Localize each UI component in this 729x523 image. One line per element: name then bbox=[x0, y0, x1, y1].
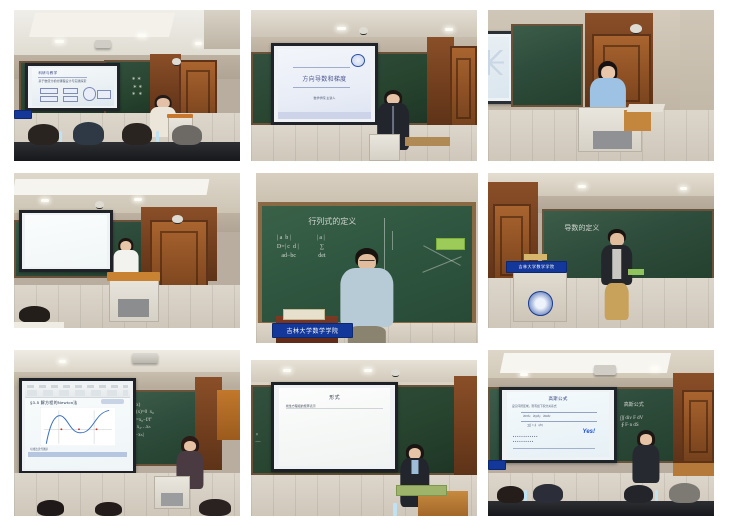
university-emblem bbox=[528, 291, 553, 315]
security-camera-icon bbox=[359, 27, 368, 34]
wall-column bbox=[653, 10, 680, 116]
projection-screen bbox=[19, 210, 114, 272]
screen-surface: 高斯公式 设空间闭区域，则有如下积分关系式 ∂P/∂x ∂Q/∂y ∂R/∂z … bbox=[507, 392, 610, 457]
slide-rule bbox=[38, 77, 87, 78]
ceiling-light bbox=[337, 27, 346, 30]
slide-title: 方向导数和梯度 bbox=[278, 74, 370, 83]
ceiling-vent bbox=[204, 10, 240, 49]
ceiling-coffer bbox=[499, 353, 670, 373]
slide-curve-plot bbox=[40, 407, 115, 446]
toolbar-ribbon bbox=[27, 390, 128, 396]
department-banner: 吉林大学数学学院 bbox=[506, 261, 567, 272]
lectern-top bbox=[107, 272, 160, 281]
slide-rule bbox=[521, 412, 597, 413]
security-camera-icon bbox=[630, 24, 642, 33]
water-bottle bbox=[524, 490, 527, 501]
lectern bbox=[369, 134, 401, 161]
water-bottle bbox=[655, 490, 658, 501]
slide-flow-node bbox=[97, 90, 110, 99]
security-camera-icon bbox=[95, 201, 104, 208]
slide-note: ● ● ● ● ● ● ● ● ● ● ● ● bbox=[513, 435, 538, 439]
slide-emblem bbox=[351, 54, 365, 67]
screen-surface: 方向导数和梯度 数学学院 主讲人 bbox=[278, 49, 370, 119]
desk-row bbox=[14, 142, 240, 161]
photo-item[interactable]: 科研与教学 基于数值分析的课程设计与实践探索 ∗ ∗ ∗ ∗∗ ∗ bbox=[14, 10, 240, 161]
ceiling-light bbox=[41, 199, 49, 202]
slide-body: 设空间闭区域，则有如下积分关系式 bbox=[512, 404, 557, 409]
ceiling-coffer bbox=[14, 179, 210, 195]
wood-wall-panel bbox=[454, 376, 477, 476]
slide-title: 形式 bbox=[279, 394, 390, 401]
audience bbox=[14, 300, 240, 328]
ceiling-light bbox=[651, 367, 659, 370]
chalk-writing: 导数的定义 bbox=[564, 223, 599, 234]
audience-head bbox=[19, 306, 51, 323]
slide-formula: ∑∫∫ = ∮ (∂²) bbox=[527, 423, 543, 428]
projection-screen: 形式 线性方程组的矩阵表示 bbox=[271, 382, 398, 472]
chalk-writing: ∫∫∫ div F dV ∮ F·n dS bbox=[620, 415, 643, 430]
slide-formula: ∂P/∂x ∂Q/∂y ∂R/∂z bbox=[523, 414, 550, 419]
glasses-icon bbox=[360, 260, 375, 264]
slide-flow-node bbox=[83, 87, 96, 101]
audience bbox=[488, 473, 714, 516]
lectern-wood-side bbox=[624, 110, 651, 131]
projection-screen: 科研与教学 基于数值分析的课程设计与实践探索 bbox=[25, 63, 120, 111]
audience-head bbox=[73, 122, 105, 145]
audience bbox=[14, 116, 240, 161]
corner-sign bbox=[14, 110, 32, 120]
chalk-writing: 行列式的定义 bbox=[308, 216, 356, 228]
photo-item[interactable] bbox=[14, 173, 240, 328]
audience-head bbox=[199, 499, 231, 516]
slide-flow-node bbox=[40, 88, 58, 95]
door bbox=[682, 390, 714, 463]
slide-rule bbox=[293, 67, 350, 68]
slide-rule bbox=[521, 421, 597, 422]
audience-head bbox=[37, 500, 64, 516]
audience bbox=[14, 486, 240, 516]
slide-body: 基于数值分析的课程设计与实践探索 bbox=[38, 79, 86, 84]
board-sticker bbox=[436, 238, 465, 249]
screen-surface bbox=[488, 37, 509, 98]
audience-head bbox=[95, 502, 122, 516]
slide-rule bbox=[293, 87, 350, 88]
projector bbox=[95, 40, 111, 48]
projector bbox=[594, 365, 616, 375]
projection-screen: §3-5 解方程的Newton法 切线法迭代图示 bbox=[19, 378, 137, 474]
ceiling-light bbox=[59, 360, 66, 363]
presenter-legs bbox=[604, 283, 629, 321]
slide-footer-bar bbox=[278, 112, 370, 118]
ceiling-coffer bbox=[29, 13, 175, 37]
lectern bbox=[513, 269, 567, 322]
audience-head bbox=[624, 485, 653, 503]
presenter-head bbox=[640, 434, 652, 445]
audience-head bbox=[28, 124, 60, 145]
presenter-head bbox=[184, 441, 196, 452]
chalk-writing: | a b |D=| c d | ad−bc bbox=[277, 234, 299, 261]
ceiling-light bbox=[195, 42, 202, 45]
photo-item[interactable]: 导数的定义 吉林大学数学学院 bbox=[488, 173, 714, 328]
ceiling-light bbox=[283, 369, 291, 372]
desk-row bbox=[488, 501, 714, 516]
ceiling-light bbox=[364, 369, 372, 372]
water-bottle bbox=[393, 503, 397, 516]
audience-head bbox=[497, 486, 524, 503]
corner-sign bbox=[488, 460, 506, 470]
presenter-shirt bbox=[411, 460, 418, 474]
presenter-head bbox=[610, 233, 624, 246]
slide-rule bbox=[286, 408, 384, 409]
board-sticker bbox=[628, 269, 644, 275]
slide-graphic bbox=[488, 50, 504, 74]
slide-title: 高斯公式 bbox=[507, 396, 610, 402]
photo-item[interactable]: 方向导数和梯度 数学学院 主讲人 bbox=[251, 10, 477, 161]
photo-item[interactable]: 高斯公式 ∫∫∫ div F dV ∮ F·n dS 高斯公式 设空间闭区域，则… bbox=[488, 350, 714, 516]
lectern-panel bbox=[593, 131, 632, 149]
slide-title: 科研与教学 bbox=[32, 71, 120, 76]
slide-body: 数学学院 主讲人 bbox=[278, 96, 370, 101]
ceiling-light bbox=[445, 28, 453, 31]
ceiling-light bbox=[138, 34, 146, 37]
ceiling-light bbox=[134, 198, 142, 201]
presenter-shirt bbox=[612, 249, 621, 280]
lectern-nameplate bbox=[283, 309, 325, 320]
desk-row bbox=[14, 322, 64, 328]
app-toolbar bbox=[25, 384, 130, 399]
screen-surface: 科研与教学 基于数值分析的课程设计与实践探索 bbox=[32, 68, 114, 107]
projection-screen: 方向导数和梯度 数学学院 主讲人 bbox=[271, 43, 377, 125]
audience-head bbox=[533, 484, 562, 503]
blackboard bbox=[511, 24, 583, 107]
slide-annotation: Yes! bbox=[583, 429, 595, 435]
slide-accent-bar bbox=[28, 452, 127, 457]
slide-rule bbox=[513, 448, 595, 449]
lectern-monitor bbox=[627, 104, 666, 112]
slide-note: ● ● ● ● ● ● ● ● ● ● bbox=[513, 440, 533, 444]
ceiling-light bbox=[680, 187, 687, 190]
projection-screen: 高斯公式 设空间闭区域，则有如下积分关系式 ∂P/∂x ∂Q/∂y ∂R/∂z … bbox=[499, 387, 617, 463]
screen-surface: 形式 线性方程组的矩阵表示 bbox=[279, 388, 390, 466]
projector bbox=[132, 353, 158, 363]
presenter-torso bbox=[340, 268, 393, 327]
audience-head bbox=[669, 483, 701, 503]
photo-item[interactable]: 形式 线性方程组的矩阵表示 ×― bbox=[251, 360, 477, 516]
ceiling-light bbox=[55, 40, 64, 43]
water-bottle bbox=[59, 131, 62, 142]
chalk-writing: ×― bbox=[256, 432, 261, 447]
photo-item[interactable] bbox=[488, 10, 714, 161]
slide-emblem bbox=[101, 399, 124, 404]
chalk-writing: | a | ∑ det bbox=[317, 234, 326, 261]
photo-item[interactable]: f′(x) f(x)=0 x₀x₁=x₀−f/f′ x₂…xₙ|x−xₙ| §3… bbox=[14, 350, 240, 516]
photo-item[interactable]: 行列式的定义 | a b |D=| c d | ad−bc | a | ∑ de… bbox=[256, 173, 478, 343]
ceiling-light bbox=[520, 373, 528, 376]
screen-surface: §3-5 解方程的Newton法 切线法迭代图示 bbox=[25, 384, 130, 469]
presenter-legs bbox=[348, 326, 386, 343]
door bbox=[450, 46, 477, 131]
potted-plant bbox=[396, 485, 448, 496]
photo-grid: 科研与教学 基于数值分析的课程设计与实践探索 ∗ ∗ ∗ ∗∗ ∗ bbox=[0, 0, 729, 523]
chalk-line bbox=[423, 256, 462, 273]
wood-wall-panel bbox=[217, 390, 240, 440]
side-table bbox=[405, 137, 450, 146]
water-bottle bbox=[156, 131, 159, 142]
security-camera-icon bbox=[172, 215, 183, 223]
slide-flow-node bbox=[63, 96, 78, 103]
slide-flow-node bbox=[40, 96, 58, 103]
chalk-writing: ∗ ∗ ∗ ∗∗ ∗ bbox=[132, 76, 143, 99]
audience-head bbox=[122, 123, 151, 145]
chalk-writing: 高斯公式 bbox=[624, 402, 644, 410]
screen-surface bbox=[25, 215, 107, 267]
audience-head bbox=[172, 125, 201, 145]
slide-flow-node bbox=[63, 88, 78, 95]
toolbar-menu bbox=[27, 385, 128, 389]
lectern-book bbox=[524, 254, 547, 260]
department-banner: 吉林大学数学学院 bbox=[272, 323, 354, 339]
